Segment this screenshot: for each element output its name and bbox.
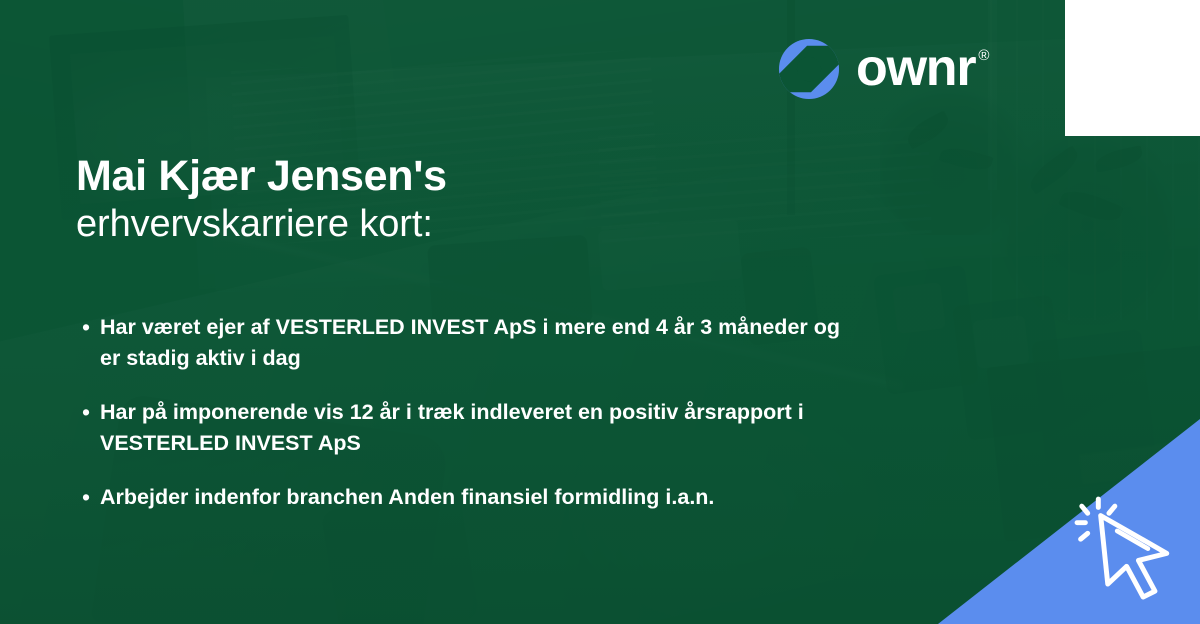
ownr-career-card: ownr ®	[0, 0, 1200, 624]
page-title-name: Mai Kjær Jensen's	[76, 152, 836, 202]
list-item-label: Har på imponerende vis 12 år i træk indl…	[100, 397, 852, 459]
ownr-wordmark-text: ownr	[856, 44, 975, 93]
bullet-dot-icon: •	[82, 482, 100, 513]
page-title: Mai Kjær Jensen's erhvervskarriere kort:	[76, 152, 836, 247]
qr-code-panel[interactable]	[1065, 0, 1200, 136]
list-item: • Har været ejer af VESTERLED INVEST ApS…	[82, 312, 882, 374]
ownr-wordmark: ownr ®	[856, 44, 989, 93]
list-item: • Har på imponerende vis 12 år i træk in…	[82, 397, 882, 459]
list-item: • Arbejder indenfor branchen Anden finan…	[82, 482, 882, 513]
registered-trademark-icon: ®	[978, 48, 989, 63]
ownr-logo[interactable]: ownr ®	[778, 37, 989, 101]
page-title-subtitle: erhvervskarriere kort:	[76, 202, 836, 248]
career-facts-list: • Har været ejer af VESTERLED INVEST ApS…	[82, 312, 882, 513]
list-item-label: Arbejder indenfor branchen Anden finansi…	[100, 482, 714, 513]
list-item-label: Har været ejer af VESTERLED INVEST ApS i…	[100, 312, 852, 374]
ownr-circle-logo-icon	[778, 38, 840, 100]
bullet-dot-icon: •	[82, 312, 100, 343]
bullet-dot-icon: •	[82, 397, 100, 428]
